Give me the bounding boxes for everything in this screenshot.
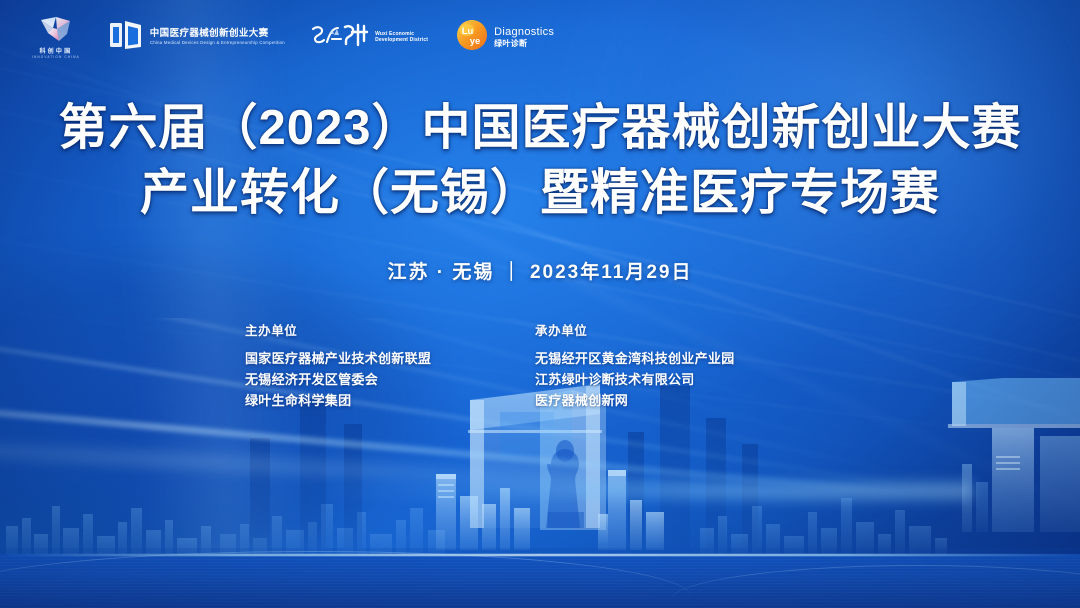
sponsor-logo-row: 科创中国 INNOVATION CHINA 中国医疗器械创新创业大赛 China… [18,14,568,60]
logo-innovation-china[interactable]: 科创中国 INNOVATION CHINA [18,14,94,60]
host-item: 无锡经济开发区管委会 [245,369,535,390]
background-light-streaks [0,0,1080,608]
title-block: 第六届（2023）中国医疗器械创新创业大赛 产业转化（无锡）暨精准医疗专场赛 江… [0,96,1080,284]
logo-innovation-china-en: INNOVATION CHINA [32,56,80,60]
host-item: 国家医疗器械产业技术创新联盟 [245,348,535,369]
water-reflection-band [0,554,1080,608]
luye-circle-icon: Lu ye [456,19,488,56]
beam-hotspot [324,478,972,504]
logo-china-medical-device-competition[interactable]: 中国医疗器械创新创业大赛 China Medical Devices Desig… [94,14,296,60]
event-banner: 科创中国 INNOVATION CHINA 中国医疗器械创新创业大赛 China… [0,0,1080,608]
logo-competition-cn: 中国医疗器械创新创业大赛 [150,29,282,40]
organizers-block: 主办单位 国家医疗器械产业技术创新联盟 无锡经济开发区管委会 绿叶生命科学集团 … [0,320,1080,411]
water-arc [670,565,1080,608]
title-line-2: 产业转化（无锡）暨精准医疗专场赛 [0,161,1080,226]
subtitle-location-date: 江苏 · 无锡 ｜ 2023年11月29日 [0,257,1080,284]
host-column: 主办单位 国家医疗器械产业技术创新联盟 无锡经济开发区管委会 绿叶生命科学集团 [245,320,535,411]
co-host-item: 无锡经开区黄金湾科技创业产业园 [535,348,835,369]
logo-wuxi-en-line2: Development District [375,37,428,43]
host-item: 绿叶生命科学集团 [245,390,535,411]
logo-luye-cn: 绿叶诊断 [494,39,554,49]
bird-mark-icon [37,15,75,48]
logo-luye-en: Diagnostics [494,26,554,39]
host-heading: 主办单位 [245,320,535,339]
co-host-column: 承办单位 无锡经开区黄金湾科技创业产业园 江苏绿叶诊断技术有限公司 医疗器械创新… [535,320,835,411]
wuxi-calligraphy-icon [310,22,370,53]
horizon-line [0,554,1080,556]
vignette-overlay [0,0,1080,608]
light-beam [0,426,929,506]
title-line-1: 第六届（2023）中国医疗器械创新创业大赛 [0,96,1080,161]
co-host-item: 医疗器械创新网 [535,390,835,411]
open-book-door-icon [108,20,144,55]
bottom-left-shadow [0,243,454,583]
co-host-heading: 承办单位 [535,320,835,339]
light-streak [0,0,1080,582]
svg-text:ye: ye [470,36,481,47]
water-arc [0,551,691,608]
logo-wuxi-economic-development-district[interactable]: Wuxi Economic Development District [296,14,442,60]
co-host-item: 江苏绿叶诊断技术有限公司 [535,369,835,390]
logo-luye-diagnostics[interactable]: Lu ye Diagnostics 绿叶诊断 [442,14,568,60]
left-soft-beam [0,0,663,608]
logo-competition-en: China Medical Devices Design & Entrepren… [150,40,285,45]
